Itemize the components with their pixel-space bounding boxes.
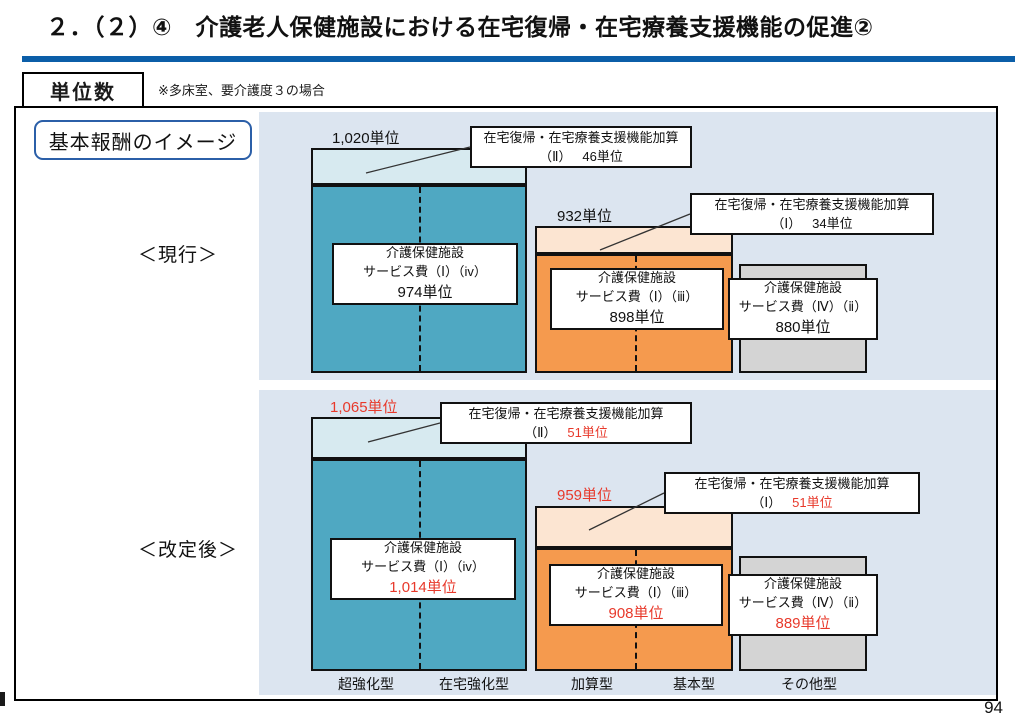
page-title: ２．（２）④ 介護老人保健施設における在宅復帰・在宅療養支援機能の促進② xyxy=(46,8,873,42)
callout-tier: （Ⅱ） xyxy=(524,425,556,440)
service-type: サービス費（Ⅰ）（iv） xyxy=(363,263,487,282)
service-name: 介護保健施設 xyxy=(597,565,675,584)
axis-label-3: 基本型 xyxy=(639,674,749,694)
revised-orange-total-value: 959単位 xyxy=(557,484,612,505)
row-label-revised: ＜改定後＞ xyxy=(138,535,238,562)
service-value: 908単位 xyxy=(608,603,663,625)
unit-badge: 単位数 xyxy=(22,72,144,108)
service-value: 1,014単位 xyxy=(389,577,457,599)
service-value: 898単位 xyxy=(609,307,664,329)
revised-teal-service-label: 介護保健施設 サービス費（Ⅰ）（iv） 1,014単位 xyxy=(330,538,516,600)
service-name: 介護保健施設 xyxy=(764,575,842,594)
revised-callout-addon-2: 在宅復帰・在宅療養支援機能加算 （Ⅱ） 51単位 xyxy=(440,402,692,444)
revised-callout-addon-1: 在宅復帰・在宅療養支援機能加算 （Ⅰ） 51単位 xyxy=(664,472,920,514)
current-orange-service-label: 介護保健施設 サービス費（Ⅰ）（ⅲ） 898単位 xyxy=(550,268,724,330)
current-gray-service-label: 介護保健施設 サービス費（Ⅳ）（ⅱ） 880単位 xyxy=(728,278,878,340)
service-name: 介護保健施設 xyxy=(764,279,842,298)
current-teal-total-value: 1,020単位 xyxy=(332,127,400,148)
axis-category-row: 超強化型 在宅強化型 加算型 基本型 その他型 xyxy=(259,672,996,696)
service-value: 880単位 xyxy=(775,317,830,339)
revised-orange-service-label: 介護保健施設 サービス費（Ⅰ）（ⅲ） 908単位 xyxy=(549,564,723,626)
callout-title: 在宅復帰・在宅療養支援機能加算 xyxy=(468,404,663,424)
service-type: サービス費（Ⅳ）（ⅱ） xyxy=(739,594,867,613)
callout-tier-amount: （Ⅰ） 34単位 xyxy=(771,214,852,234)
unit-note: ※多床室、要介護度３の場合 xyxy=(158,80,325,99)
axis-label-1: 在宅強化型 xyxy=(419,674,529,694)
current-teal-service-label: 介護保健施設 サービス費（Ⅰ）（iv） 974単位 xyxy=(332,243,518,305)
axis-label-0: 超強化型 xyxy=(311,674,421,694)
service-value: 889単位 xyxy=(775,613,830,635)
callout-amount: 51単位 xyxy=(792,495,832,510)
callout-amount: 46単位 xyxy=(582,149,622,164)
callout-tier-amount: （Ⅱ） 46単位 xyxy=(539,147,623,167)
callout-tier-amount: （Ⅱ） 51単位 xyxy=(524,423,608,443)
callout-title: 在宅復帰・在宅療養支援機能加算 xyxy=(483,128,678,148)
callout-tier-amount: （Ⅰ） 51単位 xyxy=(751,493,832,513)
edge-marker xyxy=(0,692,5,706)
service-type: サービス費（Ⅳ）（ⅱ） xyxy=(739,298,867,317)
current-callout-addon-2: 在宅復帰・在宅療養支援機能加算 （Ⅱ） 46単位 xyxy=(470,126,692,168)
page-number: 94 xyxy=(984,698,1003,718)
service-name: 介護保健施設 xyxy=(598,269,676,288)
axis-label-4: その他型 xyxy=(749,674,869,694)
revised-teal-total-value: 1,065単位 xyxy=(330,396,398,417)
service-name: 介護保健施設 xyxy=(384,539,462,558)
callout-title: 在宅復帰・在宅療養支援機能加算 xyxy=(694,474,889,494)
axis-label-2: 加算型 xyxy=(537,674,647,694)
service-type: サービス費（Ⅰ）（ⅲ） xyxy=(575,584,698,603)
callout-amount: 34単位 xyxy=(812,216,852,231)
callout-tier: （Ⅰ） xyxy=(771,216,801,231)
row-label-current: ＜現行＞ xyxy=(138,240,218,267)
service-name: 介護保健施設 xyxy=(386,244,464,263)
callout-title: 在宅復帰・在宅療養支援機能加算 xyxy=(714,195,909,215)
basic-reward-image-label: 基本報酬のイメージ xyxy=(34,120,252,160)
callout-amount: 51単位 xyxy=(567,425,607,440)
current-orange-total-value: 932単位 xyxy=(557,205,612,226)
revised-gray-service-label: 介護保健施設 サービス費（Ⅳ）（ⅱ） 889単位 xyxy=(728,574,878,636)
service-value: 974単位 xyxy=(397,282,452,304)
current-callout-addon-1: 在宅復帰・在宅療養支援機能加算 （Ⅰ） 34単位 xyxy=(690,193,934,235)
callout-tier: （Ⅱ） xyxy=(539,149,571,164)
service-type: サービス費（Ⅰ）（ⅲ） xyxy=(576,288,699,307)
service-type: サービス費（Ⅰ）（iv） xyxy=(361,558,485,577)
callout-tier: （Ⅰ） xyxy=(751,495,781,510)
title-divider-rule xyxy=(22,56,1015,62)
